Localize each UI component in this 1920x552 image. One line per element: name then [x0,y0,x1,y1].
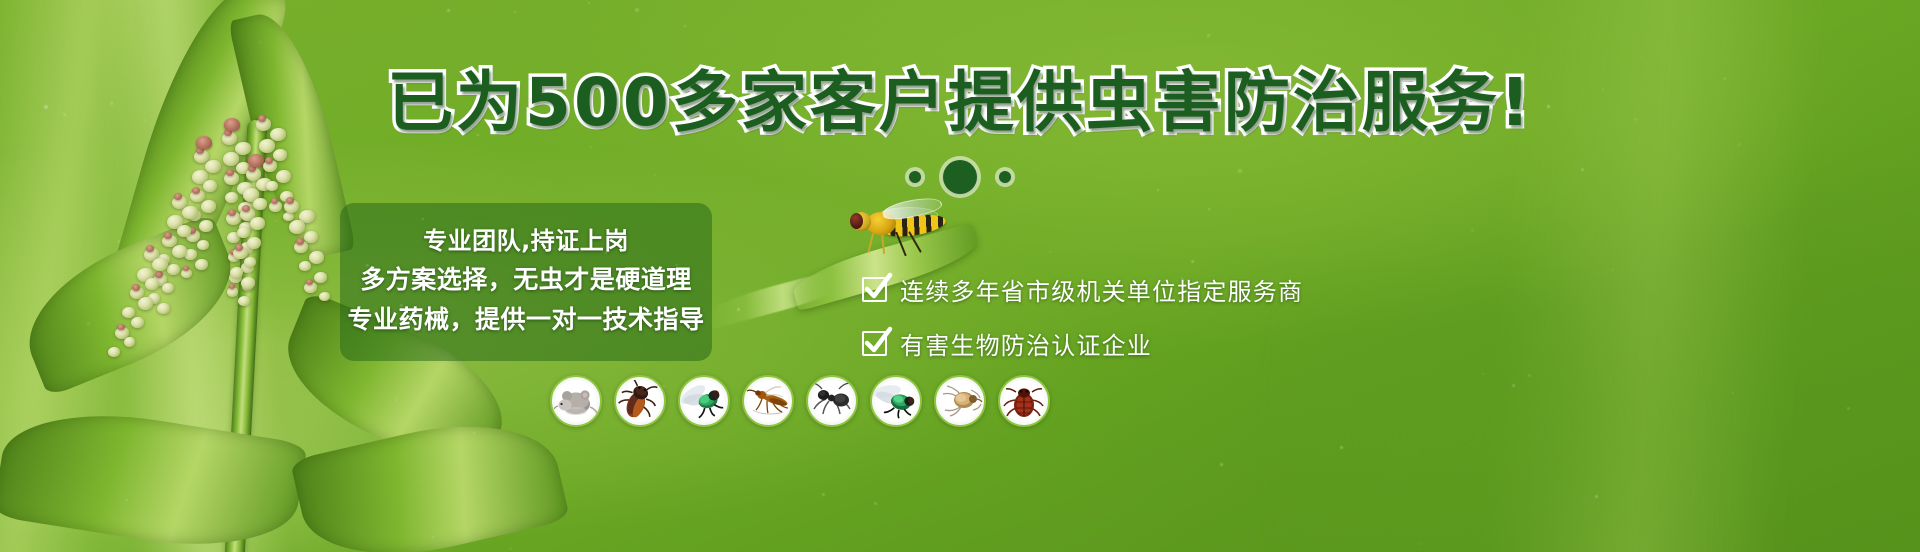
fly-leg [867,231,874,253]
hoverfly-icon [848,198,956,254]
pest-types-row [550,375,1050,427]
checklist-item: 连续多年省市级机关单位指定服务商 [862,272,1303,307]
banner-headline: 已为500多家客户提供虫害防治服务! [0,70,1920,136]
dot-large-center [943,160,977,194]
pest-icon-blowfly[interactable] [870,375,922,427]
fly-leg [881,232,885,254]
checkbox-checked-icon [862,331,887,356]
background-shadow-right [1290,300,1710,552]
pest-icon-bedbug[interactable] [998,375,1050,427]
selling-point-line-2: 多方案选择，无虫才是硬道理 [360,267,692,293]
pest-icon-flea[interactable] [934,375,986,427]
selling-point-line-1: 专业团队,持证上岗 [423,229,629,254]
mouse-icon [554,381,598,421]
pest-icon-housefly[interactable] [678,375,730,427]
checklist-item-label: 连续多年省市级机关单位指定服务商 [900,272,1303,307]
dot-small-left [909,171,921,183]
bedbug-icon [1002,380,1046,422]
credentials-checklist: 连续多年省市级机关单位指定服务商 有害生物防治认证企业 [862,272,1303,361]
pest-icon-mouse[interactable] [550,375,602,427]
fly-eye [850,213,863,229]
decorative-dots [0,160,1920,194]
pest-control-banner: 已为500多家客户提供虫害防治服务! 专业团队,持证上岗 多方案选择，无虫才是硬… [0,0,1920,552]
checklist-item-label: 有害生物防治认证企业 [900,326,1152,361]
housefly-icon [681,380,727,422]
checkbox-checked-icon [862,277,887,302]
mosquito-icon [745,380,791,422]
selling-point-line-3: 专业药械，提供一对一技术指导 [348,307,705,333]
flea-icon [937,380,983,422]
ant-icon [809,381,855,421]
banner-headline-text: 已为500多家客户提供虫害防治服务! [387,64,1533,141]
blowfly-icon [873,380,919,422]
plant-leaf [0,397,308,552]
dot-small-right [999,171,1011,183]
pest-icon-mosquito[interactable] [742,375,794,427]
selling-points-panel: 专业团队,持证上岗 多方案选择，无虫才是硬道理 专业药械，提供一对一技术指导 [340,203,712,361]
checklist-item: 有害生物防治认证企业 [862,326,1303,361]
cockroach-icon [618,380,662,422]
pest-icon-cockroach[interactable] [614,375,666,427]
pest-icon-ant[interactable] [806,375,858,427]
